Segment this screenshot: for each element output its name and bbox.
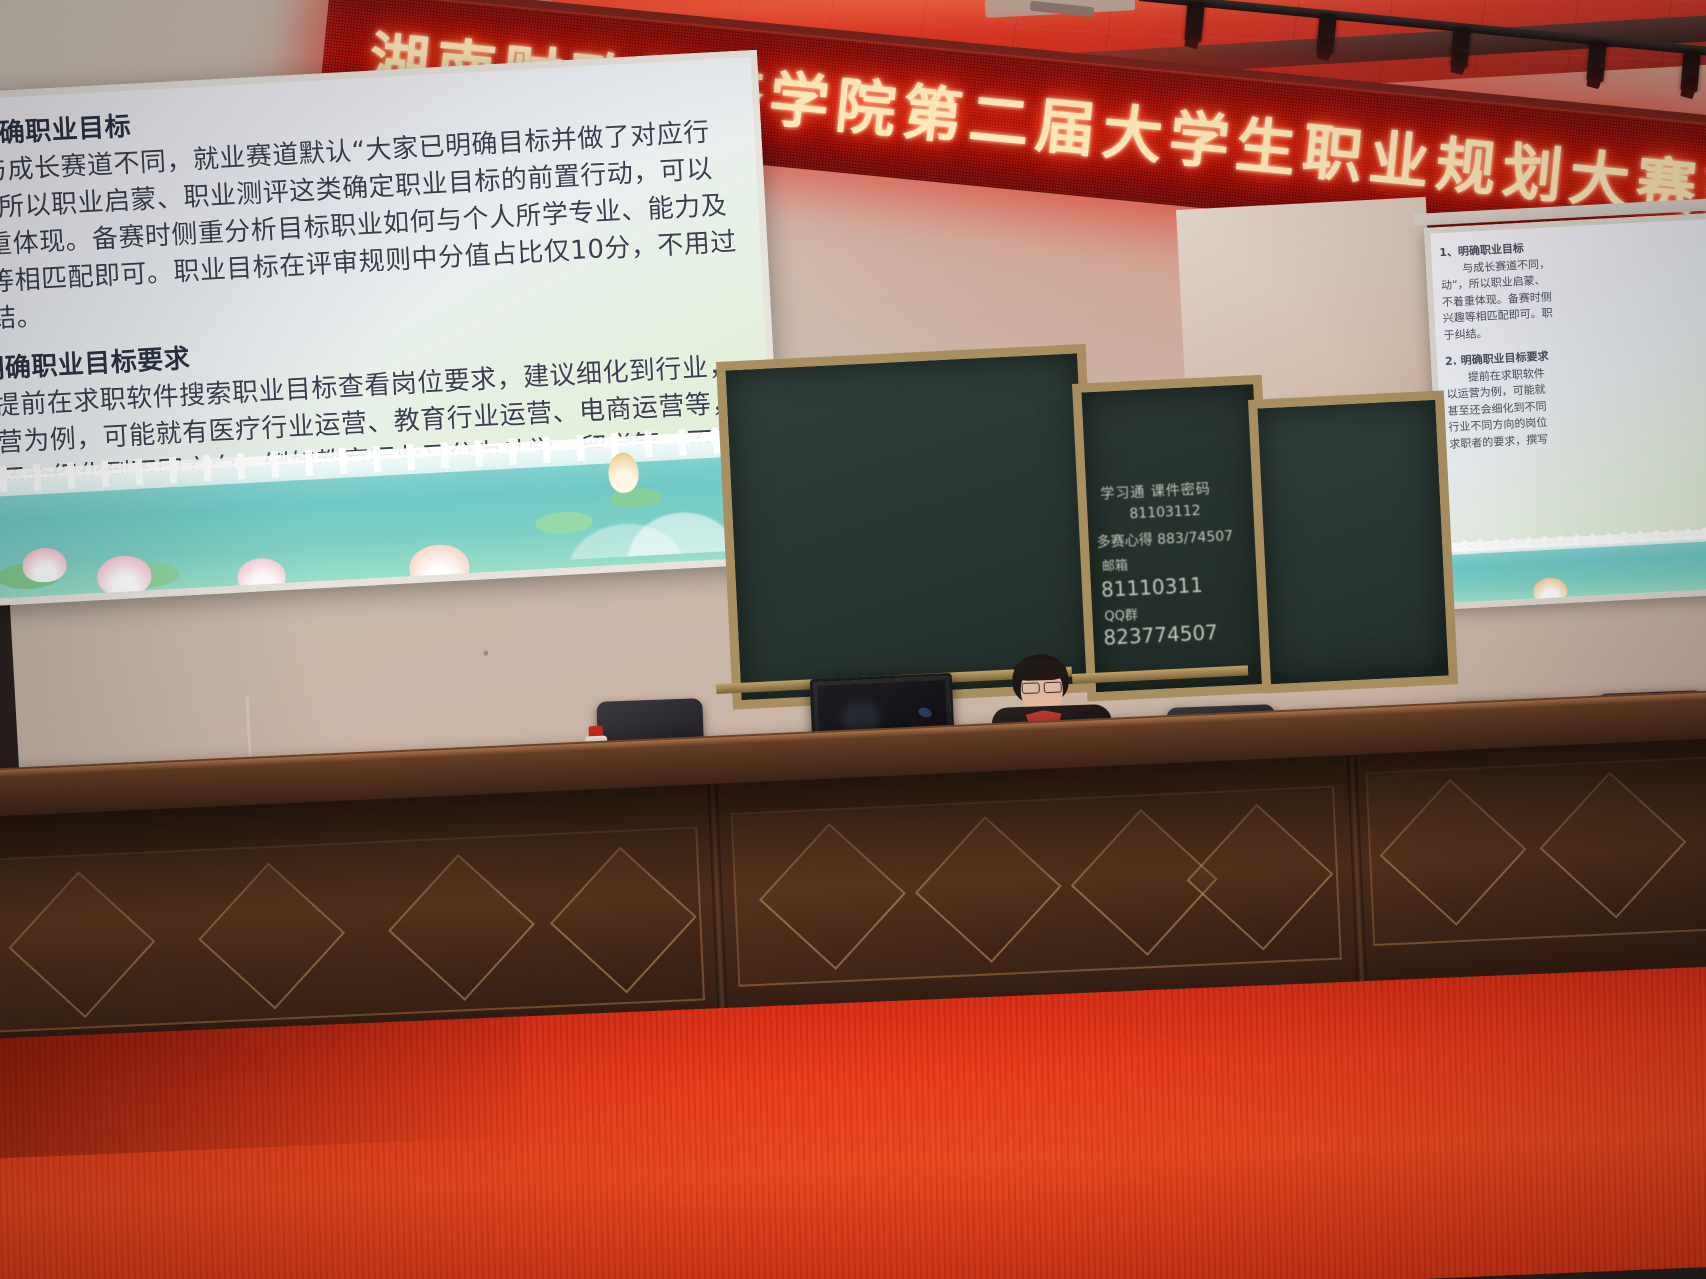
side-slide-artwork: [1446, 524, 1706, 604]
chalk-line: 多赛心得 883/74507: [1096, 525, 1233, 552]
lotus-flower: [1533, 577, 1568, 603]
lotus-flower: [96, 554, 152, 597]
side-slide-body: 1、明确职业目标 与成长赛道不同， 动”，所以职业启蒙、 不着重体现。备赛时侧 …: [1439, 230, 1706, 453]
carpet-shadow: [0, 1017, 525, 1160]
main-projection-screen: 1、明确职业目标 与成长赛道不同，就业赛道默认“大家已明确目标并做了对应行 动”…: [0, 50, 785, 609]
lotus-flower: [237, 557, 287, 596]
side-projection-screen: 1、明确职业目标 与成长赛道不同， 动”，所以职业启蒙、 不着重体现。备赛时侧 …: [1424, 212, 1706, 610]
glasses-icon: [1021, 682, 1063, 692]
track-light-icon: [1586, 41, 1606, 82]
track-light-icon: [1316, 13, 1336, 54]
chalk-line: 学习通 课件密码: [1100, 478, 1211, 503]
chalk-line: 823774507: [1103, 620, 1219, 650]
lecture-hall-photo: 湖南财政经济学院第二届大学生职业规划大赛就业赛道宣讲会 1、明确职业目标 与成长…: [0, 0, 1706, 1279]
track-light-icon: [1450, 27, 1470, 68]
side-slide: 1、明确职业目标 与成长赛道不同， 动”，所以职业启蒙、 不着重体现。备赛时侧 …: [1430, 218, 1706, 603]
chalkboard-right: [1248, 390, 1458, 693]
chalk-line: QQ群: [1104, 604, 1138, 625]
wall-fixture-dot: [483, 651, 488, 656]
chalk-line: 81103112: [1129, 503, 1201, 522]
presentation-slide: 1、明确职业目标 与成长赛道不同，就业赛道默认“大家已明确目标并做了对应行 动”…: [0, 57, 777, 602]
presenter-fringe: [1014, 657, 1067, 681]
track-light-icon: [1680, 51, 1700, 92]
chalk-line: 81110311: [1101, 573, 1204, 602]
chalk-line: 邮箱: [1101, 554, 1128, 574]
track-light-icon: [1184, 1, 1204, 42]
screen-glare: [841, 703, 881, 731]
